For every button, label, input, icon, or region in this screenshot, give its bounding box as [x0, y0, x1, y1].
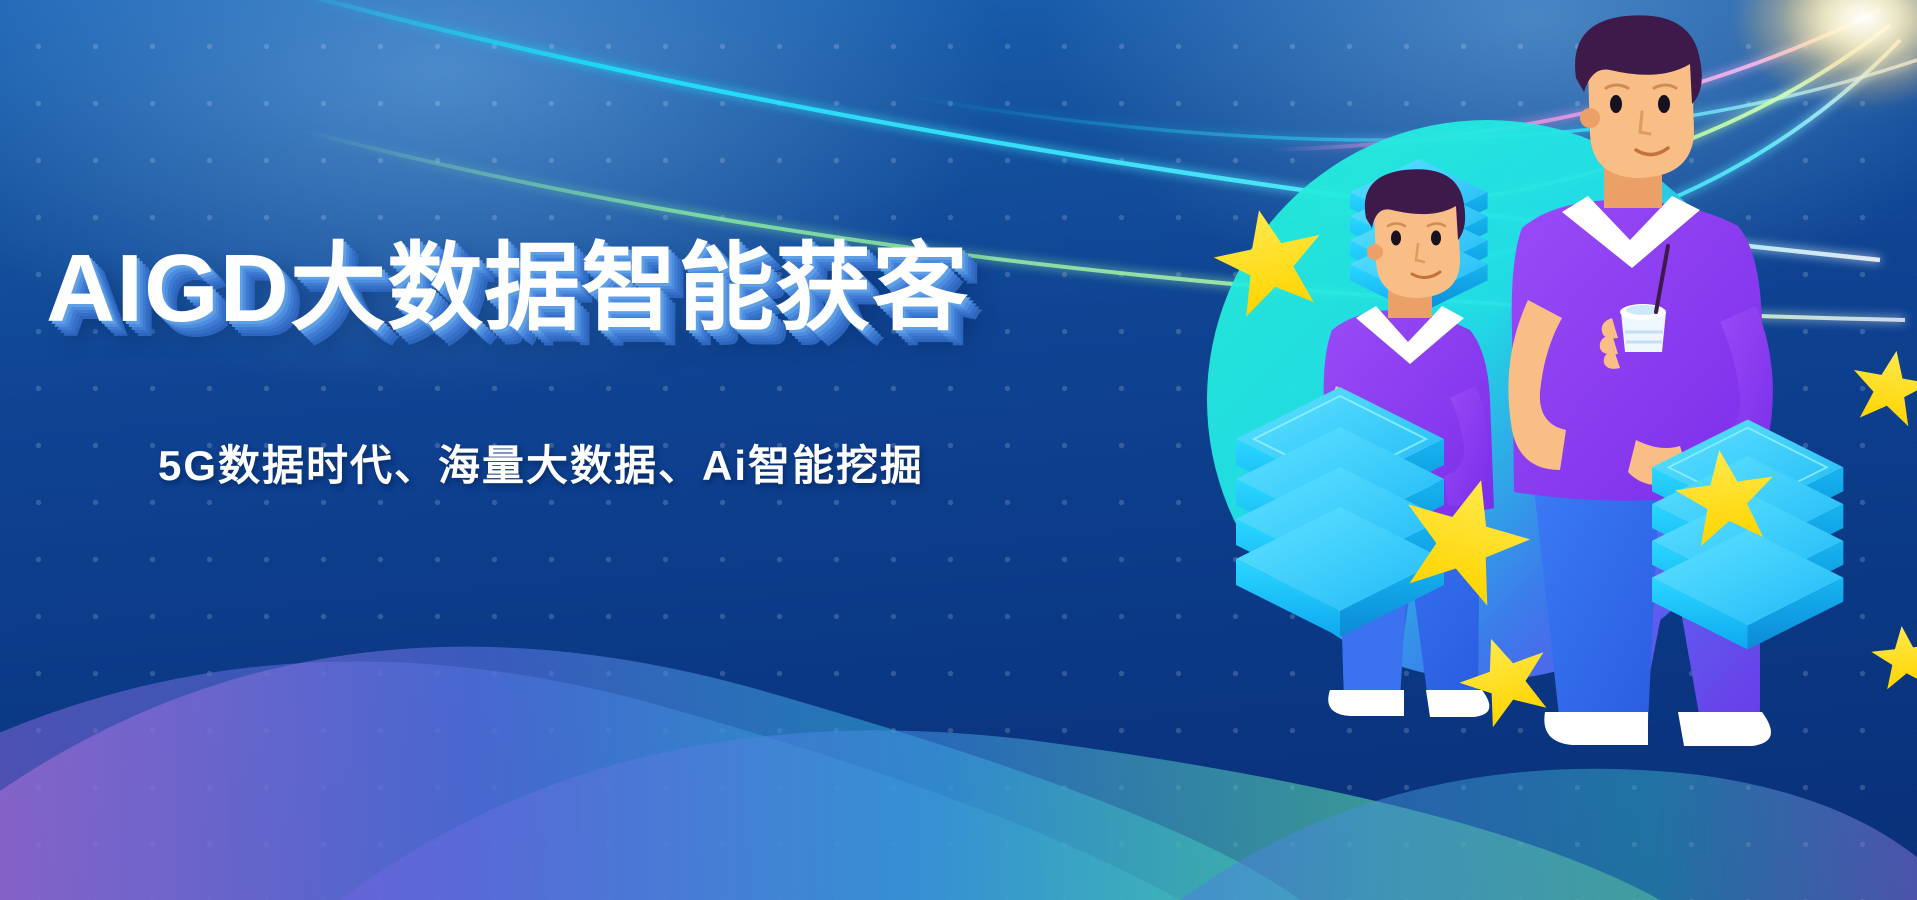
- page-subtitle: 5G数据时代、海量大数据、Ai智能挖掘: [158, 432, 1046, 493]
- headline-text-block: AIGD大数据智能获客 5G数据时代、海量大数据、Ai智能挖掘: [46, 238, 1046, 493]
- star-icon: [1869, 623, 1917, 691]
- star-icon: [1846, 344, 1917, 428]
- server-stack-left: [1236, 387, 1444, 637]
- page-title: AIGD大数据智能获客: [46, 238, 1046, 340]
- server-stack-right: [1652, 419, 1843, 649]
- marketing-banner: AIGD大数据智能获客 5G数据时代、海量大数据、Ai智能挖掘: [0, 0, 1917, 900]
- subtitle-wrapper: 5G数据时代、海量大数据、Ai智能挖掘: [46, 432, 1046, 493]
